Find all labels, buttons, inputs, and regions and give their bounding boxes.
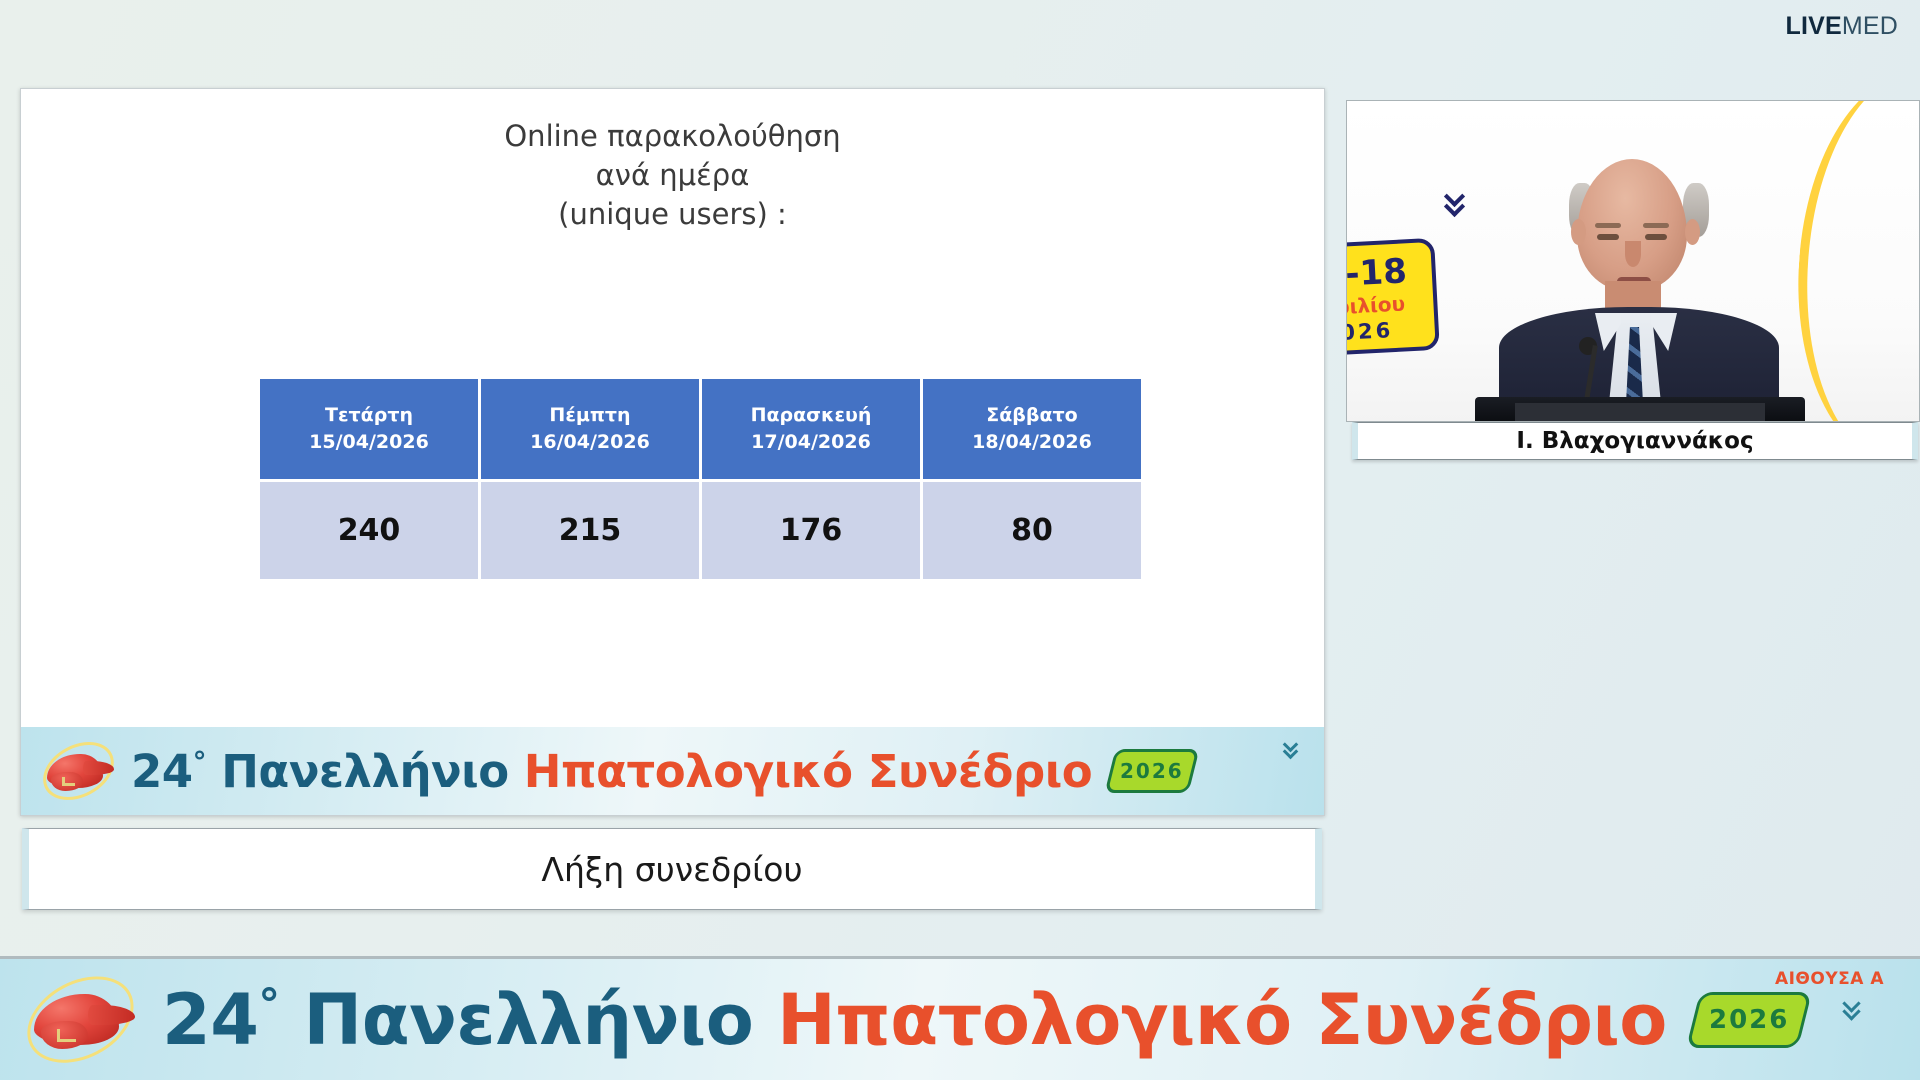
year-badge: 2026 — [1686, 992, 1812, 1048]
hall-label: ΑΙΘΟΥΣΑ Α — [1775, 969, 1884, 989]
slide-body: Online παρακολούθηση ανά ημέρα (unique u… — [21, 89, 1324, 729]
table-value-cell: 215 — [481, 479, 699, 579]
slide-title: Online παρακολούθηση ανά ημέρα (unique u… — [21, 117, 1324, 234]
year-badge: 2026 — [1105, 749, 1200, 793]
table-value-cell: 176 — [702, 479, 920, 579]
liver-icon — [22, 974, 140, 1066]
banner-word-red: Ηπατολογικό Συνέδριο — [524, 745, 1092, 798]
column-date: 18/04/2026 — [923, 429, 1141, 456]
video-player[interactable]: 5-18 πριλίου 2026 — [1346, 100, 1920, 422]
laptop — [1515, 403, 1765, 421]
slide-container[interactable]: Online παρακολούθηση ανά ημέρα (unique u… — [20, 88, 1325, 816]
slide-title-line-2: ανά ημέρα — [21, 156, 1324, 195]
chevron-down-icon — [1285, 739, 1296, 753]
banner-number: 24 — [131, 745, 193, 798]
slide-title-line-1: Online παρακολούθηση — [21, 117, 1324, 156]
table-header-cell: Τετάρτη 15/04/2026 — [260, 379, 478, 479]
slide-title-line-3: (unique users) : — [21, 195, 1324, 234]
session-status-bar: Λήξη συνεδρίου — [22, 828, 1322, 910]
backdrop-month: πριλίου — [1346, 291, 1406, 319]
footer-conference-banner: 24° Πανελλήνιο Ηπατολογικό Συνέδριο 2026… — [0, 956, 1920, 1080]
backdrop-dates: 5-18 — [1346, 251, 1408, 295]
footer-degree: ° — [258, 980, 279, 1030]
table-header-row: Τετάρτη 15/04/2026 Πέμπτη 16/04/2026 Παρ… — [260, 379, 1141, 479]
column-weekday: Πέμπτη — [481, 402, 699, 429]
table-row: 240 215 176 80 — [260, 479, 1141, 579]
year-badge-label: 2026 — [1120, 759, 1184, 783]
slide-conference-banner: 24° Πανελλήνιο Ηπατολογικό Συνέδριο 2026 — [21, 727, 1325, 815]
column-date: 16/04/2026 — [481, 429, 699, 456]
table-header-cell: Παρασκευή 17/04/2026 — [702, 379, 920, 479]
session-status-text: Λήξη συνεδρίου — [541, 850, 802, 889]
banner-degree: ° — [193, 745, 206, 778]
table-header-cell: Σάββατο 18/04/2026 — [923, 379, 1141, 479]
table-value-cell: 240 — [260, 479, 478, 579]
column-date: 17/04/2026 — [702, 429, 920, 456]
chevron-down-icon — [1845, 997, 1858, 1013]
chevron-down-icon — [1447, 189, 1462, 209]
speaker-name: Ι. Βλαχογιαννάκος — [1516, 428, 1753, 454]
video-panel[interactable]: 5-18 πριλίου 2026 — [1346, 100, 1920, 422]
top-bar: LIVEMED — [0, 0, 1920, 58]
daily-unique-users-table: Τετάρτη 15/04/2026 Πέμπτη 16/04/2026 Παρ… — [257, 379, 1144, 579]
footer-number: 24 — [162, 979, 258, 1061]
year-badge-label: 2026 — [1709, 1005, 1789, 1035]
footer-banner-text: 24° Πανελλήνιο Ηπατολογικό Συνέδριο — [162, 979, 1667, 1061]
speaker-figure — [1499, 131, 1779, 421]
livemed-logo[interactable]: LIVEMED — [1785, 12, 1898, 41]
footer-word-teal: Πανελλήνιο — [304, 979, 754, 1061]
speaker-nameplate: Ι. Βλαχογιαννάκος — [1352, 422, 1918, 460]
backdrop-date-badge: 5-18 πριλίου 2026 — [1346, 238, 1440, 356]
table-header-cell: Πέμπτη 16/04/2026 — [481, 379, 699, 479]
banner-word-teal: Πανελλήνιο — [221, 745, 508, 798]
column-weekday: Παρασκευή — [702, 402, 920, 429]
backdrop-year: 2026 — [1346, 318, 1394, 346]
column-weekday: Σάββατο — [923, 402, 1141, 429]
livemed-logo-light: MED — [1842, 12, 1898, 40]
livemed-logo-bold: LIVE — [1785, 12, 1841, 40]
column-date: 15/04/2026 — [260, 429, 478, 456]
footer-word-red: Ηπατολογικό Συνέδριο — [777, 979, 1667, 1061]
table-value-cell: 80 — [923, 479, 1141, 579]
liver-icon — [39, 740, 117, 802]
column-weekday: Τετάρτη — [260, 402, 478, 429]
slide-banner-text: 24° Πανελλήνιο Ηπατολογικό Συνέδριο — [131, 745, 1092, 798]
